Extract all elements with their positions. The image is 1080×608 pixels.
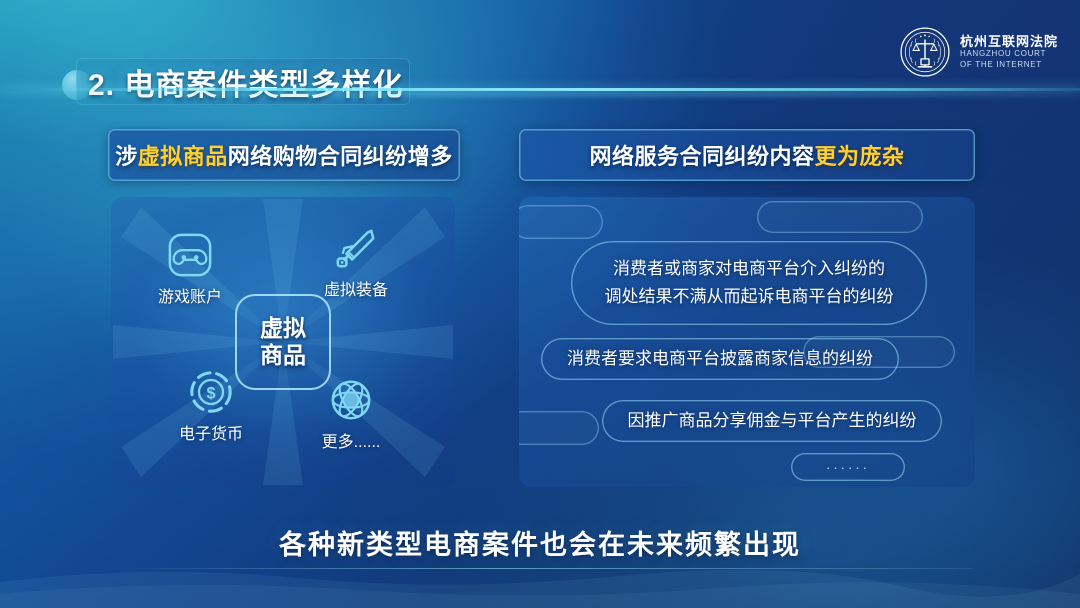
page-title: 2. 电商案件类型多样化	[88, 60, 403, 104]
left-panel-body: 游戏账户 虚拟装备 $	[111, 197, 455, 487]
right-panel-body: 消费者或商家对电商平台介入纠纷的 调处结果不满从而起诉电商平台的纠纷 消费者要求…	[519, 197, 975, 487]
dispute-item-1[interactable]: 消费者或商家对电商平台介入纠纷的 调处结果不满从而起诉电商平台的纠纷	[571, 241, 927, 325]
dispute-item-2[interactable]: 消费者要求电商平台披露商家信息的纠纷	[541, 338, 899, 380]
node-virtual-equipment[interactable]: 虚拟装备	[301, 225, 411, 300]
sword-icon	[333, 225, 379, 271]
dispute-item-3[interactable]: 因推广商品分享佣金与平台产生的纠纷	[602, 400, 942, 442]
node-label-digital-currency: 电子货币	[156, 420, 266, 444]
scales-of-justice-emblem-icon	[899, 26, 951, 78]
left-panel-heading: 涉虚拟商品网络购物合同纠纷增多	[108, 129, 460, 181]
center-chip-line1: 虚拟	[260, 315, 306, 342]
decor-pill-top-right	[757, 201, 923, 233]
right-panel-heading: 网络服务合同纠纷内容更为庞杂	[519, 129, 975, 181]
dispute-item-1-text: 消费者或商家对电商平台介入纠纷的 调处结果不满从而起诉电商平台的纠纷	[589, 255, 910, 310]
left-heading-suffix: 网络购物合同纠纷增多	[228, 144, 453, 169]
decor-pill-bottom-left	[519, 411, 599, 445]
right-heading-prefix: 网络服务合同纠纷内容	[589, 144, 814, 169]
left-heading-prefix: 涉	[115, 144, 138, 169]
node-game-account[interactable]: 游戏账户	[135, 232, 245, 307]
logo-name-en-line1: HANGZHOU COURT	[960, 50, 1058, 58]
center-chip-virtual-goods[interactable]: 虚拟 商品	[235, 294, 331, 390]
left-panel-heading-text: 涉虚拟商品网络购物合同纠纷增多	[115, 139, 453, 171]
dispute-item-2-text: 消费者要求电商平台披露商家信息的纠纷	[551, 345, 889, 373]
logo-name-en-line2: OF THE INTERNET	[960, 61, 1058, 69]
gamepad-icon	[167, 232, 213, 278]
globe-network-icon	[328, 377, 374, 423]
dispute-item-3-text: 因推广商品分享佣金与平台产生的纠纷	[612, 407, 933, 435]
node-label-game-account: 游戏账户	[135, 283, 245, 307]
header-divider-glow	[0, 91, 1080, 97]
right-heading-highlight: 更为庞杂	[815, 144, 905, 169]
left-heading-highlight: 虚拟商品	[138, 144, 228, 169]
bottom-wave-decoration	[0, 552, 1080, 608]
right-panel-heading-text: 网络服务合同纠纷内容更为庞杂	[589, 139, 904, 171]
center-chip-line2: 商品	[260, 342, 306, 369]
dispute-more-pill[interactable]: ······	[791, 453, 905, 481]
dispute-item-1-line2: 调处结果不满从而起诉电商平台的纠纷	[605, 283, 894, 311]
slide-root: 2. 电商案件类型多样化 杭州互联网	[0, 0, 1080, 608]
dispute-item-1-line1: 消费者或商家对电商平台介入纠纷的	[605, 255, 894, 283]
decor-pill-top-left	[519, 205, 603, 239]
node-label-more: 更多......	[296, 428, 406, 452]
coin-dollar-icon: $	[188, 369, 234, 415]
logo-text-block: 杭州互联网法院 HANGZHOU COURT OF THE INTERNET	[960, 35, 1058, 69]
court-logo: 杭州互联网法院 HANGZHOU COURT OF THE INTERNET	[899, 26, 1058, 78]
dispute-more-dots: ······	[826, 460, 870, 475]
logo-name-cn: 杭州互联网法院	[960, 35, 1058, 49]
svg-text:$: $	[206, 385, 215, 403]
